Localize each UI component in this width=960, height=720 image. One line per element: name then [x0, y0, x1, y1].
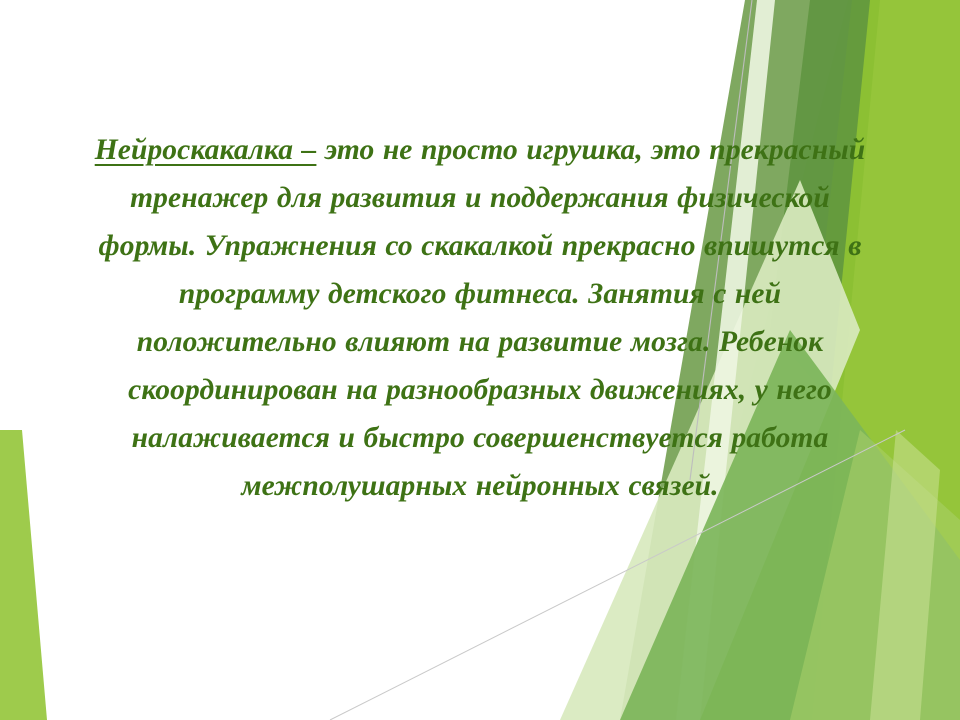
slide-canvas: Нейроскакалка – это не просто игрушка, э… [0, 0, 960, 720]
slide-content: Нейроскакалка – это не просто игрушка, э… [0, 0, 960, 720]
lead-phrase: Нейроскакалка – [95, 134, 317, 166]
body-rest-text: это не просто игрушка, это прекрасный тр… [99, 134, 866, 502]
body-paragraph: Нейроскакалка – это не просто игрушка, э… [80, 126, 880, 510]
